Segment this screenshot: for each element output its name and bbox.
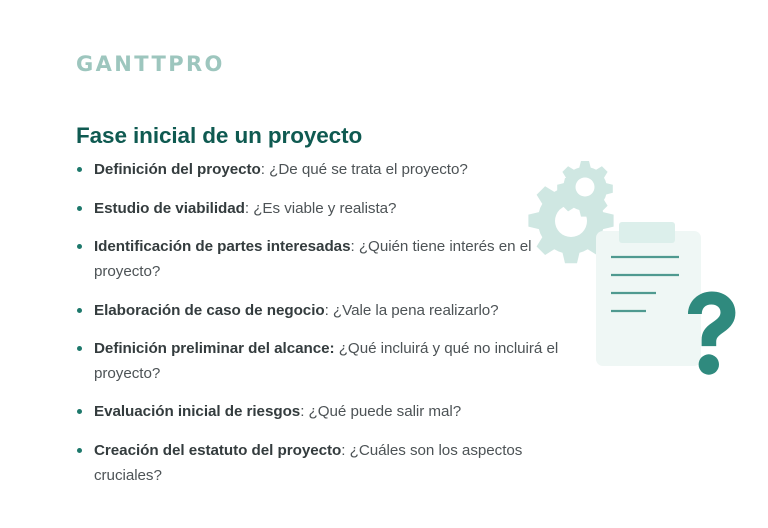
list-item-term: Definición preliminar del alcance: bbox=[94, 340, 335, 357]
clipboard-gears-question-illustration bbox=[512, 150, 744, 390]
bullet-dot-icon bbox=[77, 167, 82, 172]
list-item-description: : ¿De qué se trata el proyecto? bbox=[261, 161, 468, 178]
bullet-dot-icon bbox=[77, 206, 82, 211]
list-item-description: : ¿Es viable y realista? bbox=[245, 200, 397, 217]
list-item-term: Evaluación inicial de riesgos bbox=[94, 403, 300, 420]
list-item: Definición preliminar del alcance: ¿Qué … bbox=[76, 337, 576, 386]
page-title: Fase inicial de un proyecto bbox=[76, 122, 362, 149]
gear-small-hole bbox=[576, 178, 595, 197]
bullet-dot-icon bbox=[77, 308, 82, 313]
bullet-dot-icon bbox=[77, 448, 82, 453]
list-item: Creación del estatuto del proyecto: ¿Cuá… bbox=[76, 439, 576, 488]
list-item-term: Identificación de partes interesadas bbox=[94, 238, 350, 255]
list-item: Identificación de partes interesadas: ¿Q… bbox=[76, 235, 576, 284]
ganttpro-logo: GANTTPRO bbox=[76, 54, 225, 75]
clipboard-body bbox=[596, 231, 701, 366]
list-item: Definición del proyecto: ¿De qué se trat… bbox=[76, 158, 576, 183]
list-item: Estudio de viabilidad: ¿Es viable y real… bbox=[76, 197, 576, 222]
bullet-dot-icon bbox=[77, 244, 82, 249]
question-mark-dot bbox=[699, 354, 719, 374]
list-item: Evaluación inicial de riesgos: ¿Qué pued… bbox=[76, 400, 576, 425]
slide-canvas: GANTTPRO Fase inicial de un proyecto Def… bbox=[0, 0, 768, 528]
bullet-dot-icon bbox=[77, 409, 82, 414]
list-item-term: Estudio de viabilidad bbox=[94, 200, 245, 217]
list-item-term: Definición del proyecto bbox=[94, 161, 261, 178]
clipboard-clip bbox=[619, 222, 675, 243]
list-item: Elaboración de caso de negocio: ¿Vale la… bbox=[76, 299, 576, 324]
list-item-term: Elaboración de caso de negocio bbox=[94, 302, 325, 319]
bullet-list: Definición del proyecto: ¿De qué se trat… bbox=[76, 158, 576, 488]
list-item-description: : ¿Vale la pena realizarlo? bbox=[325, 302, 499, 319]
list-item-term: Creación del estatuto del proyecto bbox=[94, 442, 341, 459]
bullet-dot-icon bbox=[77, 346, 82, 351]
list-item-description: : ¿Qué puede salir mal? bbox=[300, 403, 461, 420]
